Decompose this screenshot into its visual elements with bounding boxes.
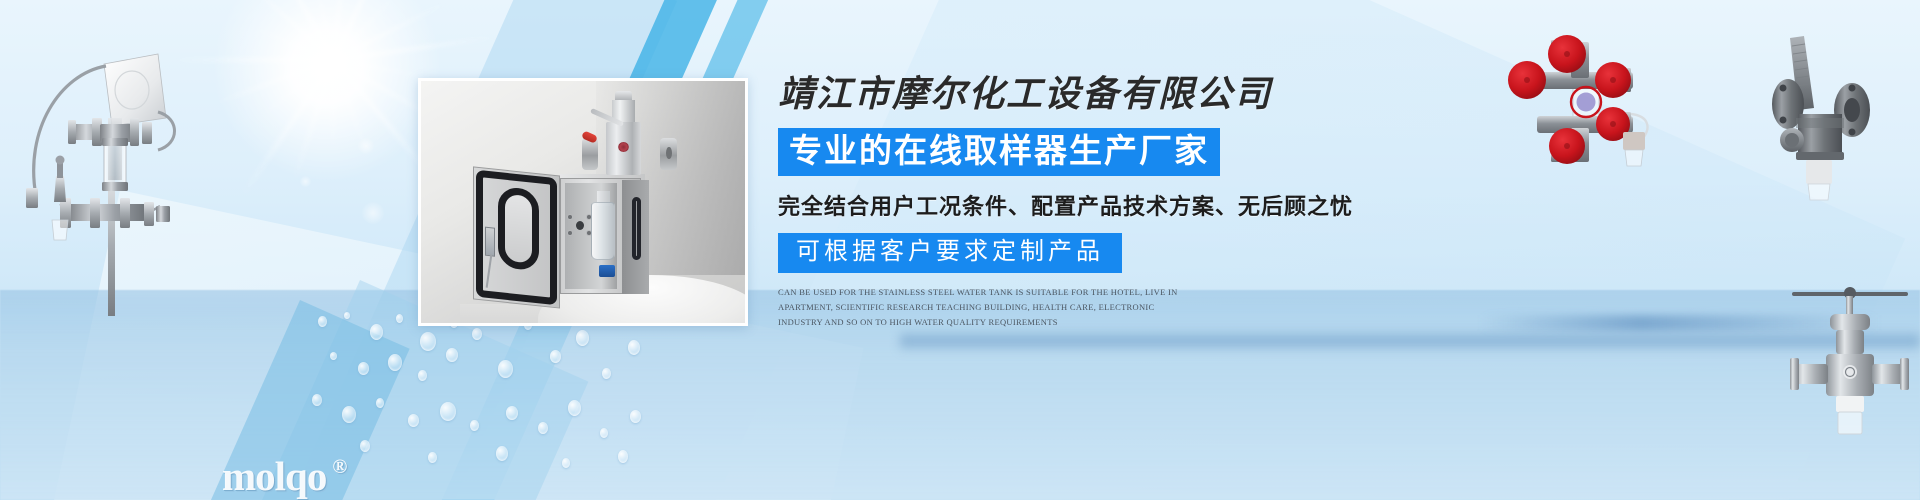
equipment-cross-valve-image <box>1495 28 1675 168</box>
water-droplet-icon <box>576 330 589 346</box>
water-droplet-icon <box>440 402 456 421</box>
cabinet-side-handle <box>632 197 642 260</box>
water-droplet-icon <box>312 394 322 406</box>
water-droplet-icon <box>408 414 419 427</box>
headline-badge: 专业的在线取样器生产厂家 <box>778 128 1220 176</box>
water-droplet-icon <box>506 406 518 420</box>
water-droplet-icon <box>420 332 436 351</box>
water-droplet-icon <box>418 370 427 381</box>
lens-flare-dot-icon <box>300 176 311 187</box>
water-droplet-icon <box>396 314 403 323</box>
equipment-left-sampler-image <box>8 26 198 316</box>
water-droplet-icon <box>538 422 548 434</box>
cabinet-port-holes <box>567 214 593 236</box>
water-droplet-icon <box>498 360 513 378</box>
fineprint-description: CAN BE USED FOR THE STAINLESS STEEL WATE… <box>778 285 1183 330</box>
sample-bottle-cap <box>599 265 615 277</box>
water-droplet-icon <box>602 368 611 379</box>
cabinet-door-latch <box>485 226 495 256</box>
cabinet-port-screw <box>568 231 572 235</box>
water-droplet-icon <box>618 450 628 463</box>
promo-banner: 靖江市摩尔化工设备有限公司 专业的在线取样器生产厂家 完全结合用户工况条件、配置… <box>0 0 1920 500</box>
tagline-badge: 可根据客户要求定制产品 <box>778 233 1122 273</box>
water-droplet-icon <box>496 446 508 461</box>
sub-headline: 完全结合用户工况条件、配置产品技术方案、无后顾之忧 <box>778 189 1418 221</box>
banner-text-block: 靖江市摩尔化工设备有限公司 专业的在线取样器生产厂家 完全结合用户工况条件、配置… <box>778 72 1418 330</box>
cabinet-port-main <box>576 221 584 230</box>
sampling-valve-assembly <box>580 91 677 183</box>
brand-watermark-text: molqo <box>222 452 326 500</box>
water-droplet-icon <box>360 440 370 452</box>
water-droplet-icon <box>388 354 402 371</box>
water-droplet-icon <box>470 420 479 431</box>
sun-flare-core-icon <box>212 0 442 182</box>
water-droplet-icon <box>358 362 369 375</box>
water-droplet-icon <box>318 316 327 327</box>
company-name: 靖江市摩尔化工设备有限公司 <box>778 72 1418 117</box>
sample-bottle <box>591 202 615 260</box>
cabinet-door <box>473 166 560 308</box>
water-droplet-icon <box>370 324 383 340</box>
water-droplet-icon <box>376 398 384 408</box>
product-photo <box>421 81 745 323</box>
water-droplet-icon <box>472 328 482 340</box>
water-droplet-icon <box>628 340 640 355</box>
water-droplet-icon <box>562 458 570 468</box>
equipment-bottom-valve-image <box>1790 280 1910 440</box>
background-horizon-line <box>900 330 1920 352</box>
registered-trademark-icon: ® <box>332 456 346 479</box>
cabinet-port-screw <box>568 215 572 219</box>
water-droplet-icon <box>342 406 356 423</box>
lens-flare-dot-icon <box>358 138 374 154</box>
water-droplet-icon <box>550 350 561 363</box>
brand-watermark: molqo ® <box>222 452 346 500</box>
water-droplets-decoration <box>300 310 660 500</box>
water-droplet-icon <box>446 348 458 362</box>
valve-flange-right <box>660 138 677 169</box>
product-photo-frame <box>418 78 748 326</box>
water-droplet-icon <box>428 452 437 463</box>
water-droplet-icon <box>568 400 581 416</box>
water-droplet-icon <box>600 428 608 438</box>
water-droplet-icon <box>344 312 350 319</box>
water-droplet-icon <box>630 410 641 423</box>
cabinet-door-window <box>498 185 539 271</box>
lens-flare-dot-icon <box>362 202 384 224</box>
valve-flange-left <box>582 138 599 169</box>
equipment-flange-valve-image <box>1770 30 1910 205</box>
water-droplet-icon <box>330 352 337 360</box>
